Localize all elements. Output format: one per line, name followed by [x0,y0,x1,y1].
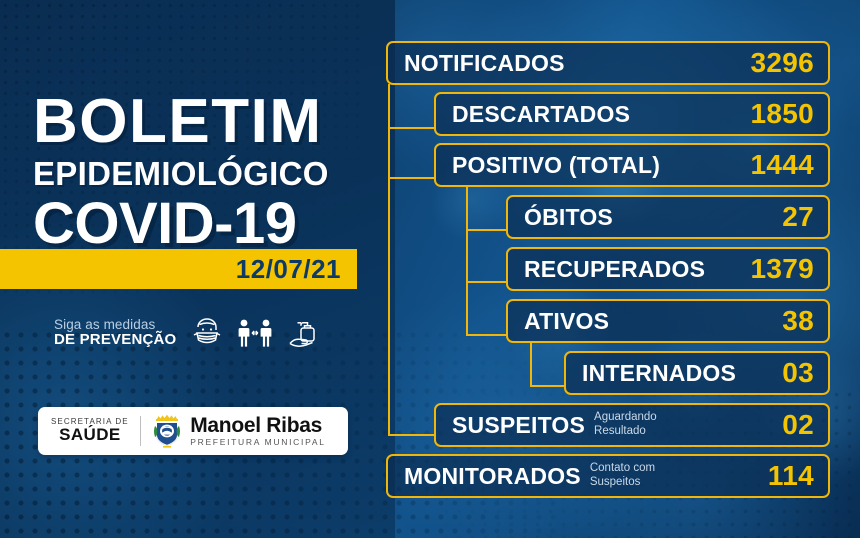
stat-label: SUSPEITOS [452,412,585,439]
connector-branch-recuperados [466,281,508,283]
stat-value: 38 [782,305,814,337]
stat-value: 114 [768,460,814,492]
stat-label: ATIVOS [524,308,609,335]
stat-value: 1379 [751,253,815,285]
stat-row-internados: INTERNADOS 03 [564,351,830,395]
stat-label: NOTIFICADOS [404,50,565,77]
stat-label: INTERNADOS [582,360,736,387]
connector-branch-ativos [466,334,508,336]
connector-branch-positivo [388,177,436,179]
stat-row-notificados: NOTIFICADOS 3296 [386,41,830,85]
statistics-tree: NOTIFICADOS 3296 DESCARTADOS 1850 POSITI… [0,0,860,538]
stat-row-suspeitos: SUSPEITOS AguardandoResultado 02 [434,403,830,447]
stat-label: ÓBITOS [524,204,613,231]
stat-row-recuperados: RECUPERADOS 1379 [506,247,830,291]
connector-branch-obitos [466,229,508,231]
stat-label: RECUPERADOS [524,256,705,283]
connector-branch-suspeitos [388,434,436,436]
stat-label: DESCARTADOS [452,101,630,128]
stat-value: 1850 [751,98,815,130]
covid-bulletin-poster: BOLETIM EPIDEMIOLÓGICO COVID-19 12/07/21… [0,0,860,538]
stat-value: 02 [782,409,814,441]
stat-row-descartados: DESCARTADOS 1850 [434,92,830,136]
connector-trunk-level3 [530,342,532,386]
stat-value: 3296 [751,47,815,79]
stat-row-ativos: ATIVOS 38 [506,299,830,343]
stat-value: 27 [782,201,814,233]
stat-label: MONITORADOS [404,463,581,490]
connector-branch-internados [530,385,566,387]
stat-sublabel: AguardandoResultado [594,411,657,438]
connector-trunk-level1 [388,84,390,436]
stat-row-monitorados: MONITORADOS Contato comSuspeitos 114 [386,454,830,498]
stat-sublabel: Contato comSuspeitos [590,462,655,489]
stat-label: POSITIVO (TOTAL) [452,152,660,179]
stat-row-obitos: ÓBITOS 27 [506,195,830,239]
connector-trunk-level2 [466,186,468,336]
stat-value: 03 [782,357,814,389]
connector-branch-descartados [388,127,436,129]
stat-row-positivo: POSITIVO (TOTAL) 1444 [434,143,830,187]
stat-value: 1444 [751,149,815,181]
